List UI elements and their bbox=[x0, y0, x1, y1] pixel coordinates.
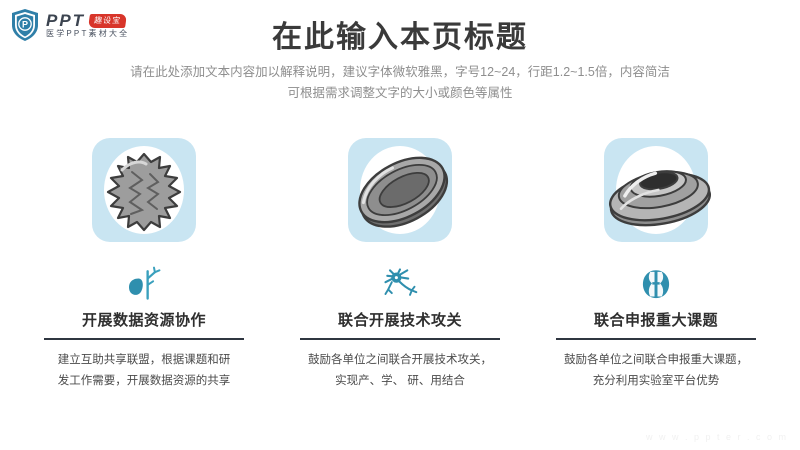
card-row: 开展数据资源协作 建立互助共享联盟，根据课题和研 发工作需要，开展数据资源的共享 bbox=[0, 130, 800, 393]
biconcave-cell-dome-illustration bbox=[596, 130, 716, 255]
card-heading: 开展数据资源协作 bbox=[82, 309, 206, 330]
page-title: 在此输入本页标题 bbox=[0, 12, 800, 56]
card-divider bbox=[300, 338, 500, 340]
site-watermark: w w w . p p t e r . c o m bbox=[646, 432, 788, 442]
card-item[interactable]: 联合开展技术攻关 鼓励各单位之间联合开展技术攻关， 实现产、学、 研、用结合 bbox=[272, 130, 528, 393]
vertebra-bone-icon bbox=[638, 261, 674, 303]
page-subtitle: 请在此处添加文本内容加以解释说明，建议字体微软雅黑，字号12~24，行距1.2~… bbox=[0, 62, 800, 103]
card-body: 鼓励各单位之间联合申报重大课题， 充分利用实验室平台优势 bbox=[549, 350, 764, 393]
card-body: 建立互助共享联盟，根据课题和研 发工作需要，开展数据资源的共享 bbox=[37, 350, 252, 393]
card-body: 鼓励各单位之间联合开展技术攻关， 实现产、学、 研、用结合 bbox=[293, 350, 508, 393]
card-divider bbox=[556, 338, 756, 340]
neuron-icon bbox=[380, 261, 420, 303]
card-divider bbox=[44, 338, 244, 340]
card-item[interactable]: 联合申报重大课题 鼓励各单位之间联合申报重大课题， 充分利用实验室平台优势 bbox=[528, 130, 784, 393]
card-body-line-2: 发工作需要，开展数据资源的共享 bbox=[37, 371, 252, 392]
card-body-line-2: 充分利用实验室平台优势 bbox=[549, 371, 764, 392]
subtitle-line-1: 请在此处添加文本内容加以解释说明，建议字体微软雅黑，字号12~24，行距1.2~… bbox=[0, 62, 800, 83]
red-blood-cell-disc-illustration bbox=[340, 130, 460, 255]
card-body-line-2: 实现产、学、 研、用结合 bbox=[293, 371, 508, 392]
spiky-white-blood-cell-illustration bbox=[84, 130, 204, 255]
card-heading: 联合开展技术攻关 bbox=[338, 309, 462, 330]
card-body-line-1: 建立互助共享联盟，根据课题和研 bbox=[37, 350, 252, 371]
card-body-line-1: 鼓励各单位之间联合开展技术攻关， bbox=[293, 350, 508, 371]
card-item[interactable]: 开展数据资源协作 建立互助共享联盟，根据课题和研 发工作需要，开展数据资源的共享 bbox=[16, 130, 272, 393]
subtitle-line-2: 可根据需求调整文字的大小或颜色等属性 bbox=[0, 83, 800, 104]
card-body-line-1: 鼓励各单位之间联合申报重大课题， bbox=[549, 350, 764, 371]
card-heading: 联合申报重大课题 bbox=[594, 309, 718, 330]
leaf-branch-icon bbox=[124, 261, 164, 303]
